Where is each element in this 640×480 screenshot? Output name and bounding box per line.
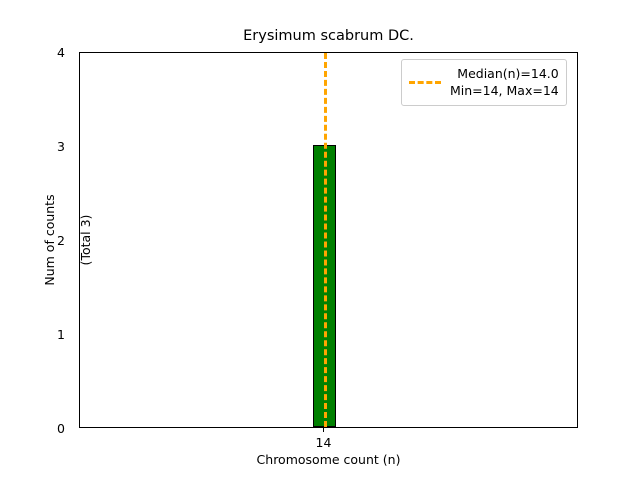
y-tick-mark-3 — [79, 144, 80, 145]
x-ticklabel-14: 14 — [294, 434, 354, 451]
legend-minmax-label: Min=14, Max=14 — [450, 82, 559, 99]
median-line — [324, 53, 327, 427]
chart-figure: Erysimum scabrum DC. Median(n)=14.0 Min=… — [0, 0, 640, 480]
chart-title: Erysimum scabrum DC. — [79, 28, 578, 45]
x-tick-mark-14 — [323, 428, 324, 432]
y-axis-label: Num of counts (Total 3) — [23, 52, 61, 428]
y-tick-mark-1 — [79, 332, 80, 333]
x-axis-label: Chromosome count (n) — [79, 452, 578, 467]
legend-entry-text: Median(n)=14.0 Min=14, Max=14 — [450, 65, 559, 99]
plot-area: Median(n)=14.0 Min=14, Max=14 — [79, 52, 578, 428]
y-axis-label-line1: Num of counts — [42, 194, 57, 285]
median-line-legend-marker — [409, 81, 441, 84]
x-axis-ticklabels: 14 — [79, 428, 578, 452]
legend-median-label: Median(n)=14.0 — [450, 65, 559, 82]
y-axis-label-line2: (Total 3) — [78, 215, 93, 266]
chart-legend: Median(n)=14.0 Min=14, Max=14 — [401, 59, 567, 106]
